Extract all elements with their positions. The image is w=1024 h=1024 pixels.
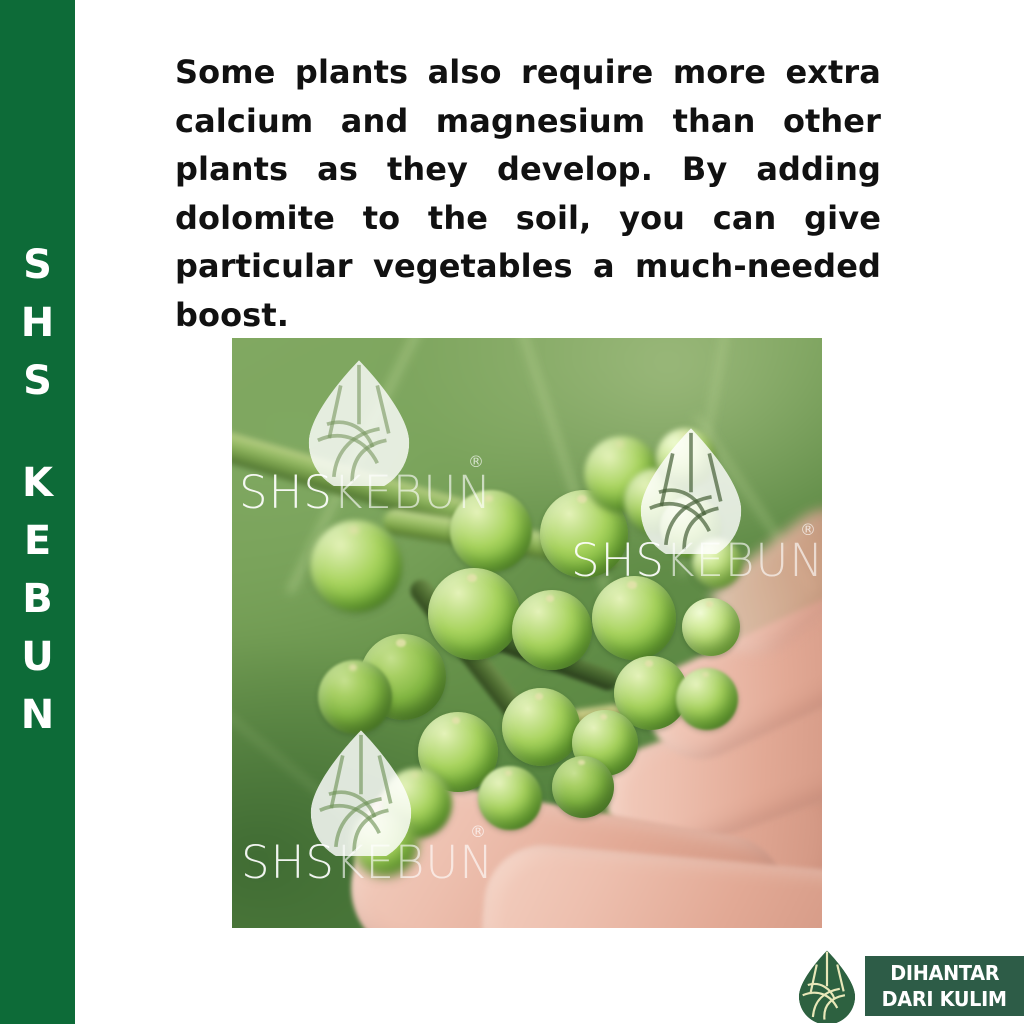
berry xyxy=(310,520,402,612)
watermark-text-part2: KEBUN xyxy=(333,466,492,519)
poster-canvas: S H S K E B U N Some plants also require… xyxy=(0,0,1024,1024)
berry xyxy=(428,568,520,660)
sidebar-letter: K xyxy=(0,454,75,512)
brand-sidebar: S H S K E B U N xyxy=(0,0,75,1024)
watermark-text-part1: SHS xyxy=(571,534,665,587)
berry xyxy=(512,590,592,670)
delivery-badge-line1: DIHANTAR xyxy=(890,961,999,986)
sidebar-letter: S xyxy=(0,352,75,410)
delivery-badge-box: DIHANTAR DARI KULIM xyxy=(865,956,1024,1016)
watermark-text-part1: SHS xyxy=(239,466,333,519)
sidebar-vertical-wordmark: S H S K E B U N xyxy=(0,236,75,744)
watermark-bottom-left: SHSKEBUN ® xyxy=(302,728,420,861)
sidebar-letter: N xyxy=(0,686,75,744)
watermark-text: SHSKEBUN xyxy=(239,470,492,515)
sidebar-letter: U xyxy=(0,628,75,686)
berry xyxy=(676,668,738,730)
berry xyxy=(502,688,580,766)
berry xyxy=(478,766,542,830)
watermark-text-part2: KEBUN xyxy=(665,534,822,587)
berry xyxy=(552,756,614,818)
sidebar-letter: H xyxy=(0,294,75,352)
berry xyxy=(592,576,676,660)
sidebar-letter: E xyxy=(0,512,75,570)
sidebar-letter: S xyxy=(0,236,75,294)
registered-trademark-icon: ® xyxy=(468,454,484,470)
body-paragraph: Some plants also require more extra calc… xyxy=(175,48,881,339)
sidebar-letter: B xyxy=(0,570,75,628)
delivery-badge-line2: DARI KULIM xyxy=(882,987,1007,1012)
registered-trademark-icon: ® xyxy=(800,522,816,538)
photo-scene: SHSKEBUN ® xyxy=(232,338,822,928)
registered-trademark-icon: ® xyxy=(470,824,486,840)
shs-kebun-droplet-logo xyxy=(795,947,859,1023)
watermark-text-part1: SHS xyxy=(241,836,335,889)
watermark-text-part2: KEBUN xyxy=(335,836,494,889)
delivery-badge: DIHANTAR DARI KULIM xyxy=(795,945,1024,1024)
watermark-right: SHSKEBUN ® xyxy=(632,426,750,559)
product-photo: SHSKEBUN ® xyxy=(232,338,822,928)
watermark-text: SHSKEBUN xyxy=(241,840,494,885)
berry xyxy=(318,660,392,734)
watermark-text: SHSKEBUN xyxy=(571,538,822,583)
watermark-top-left: SHSKEBUN ® xyxy=(300,358,418,491)
berry xyxy=(682,598,740,656)
